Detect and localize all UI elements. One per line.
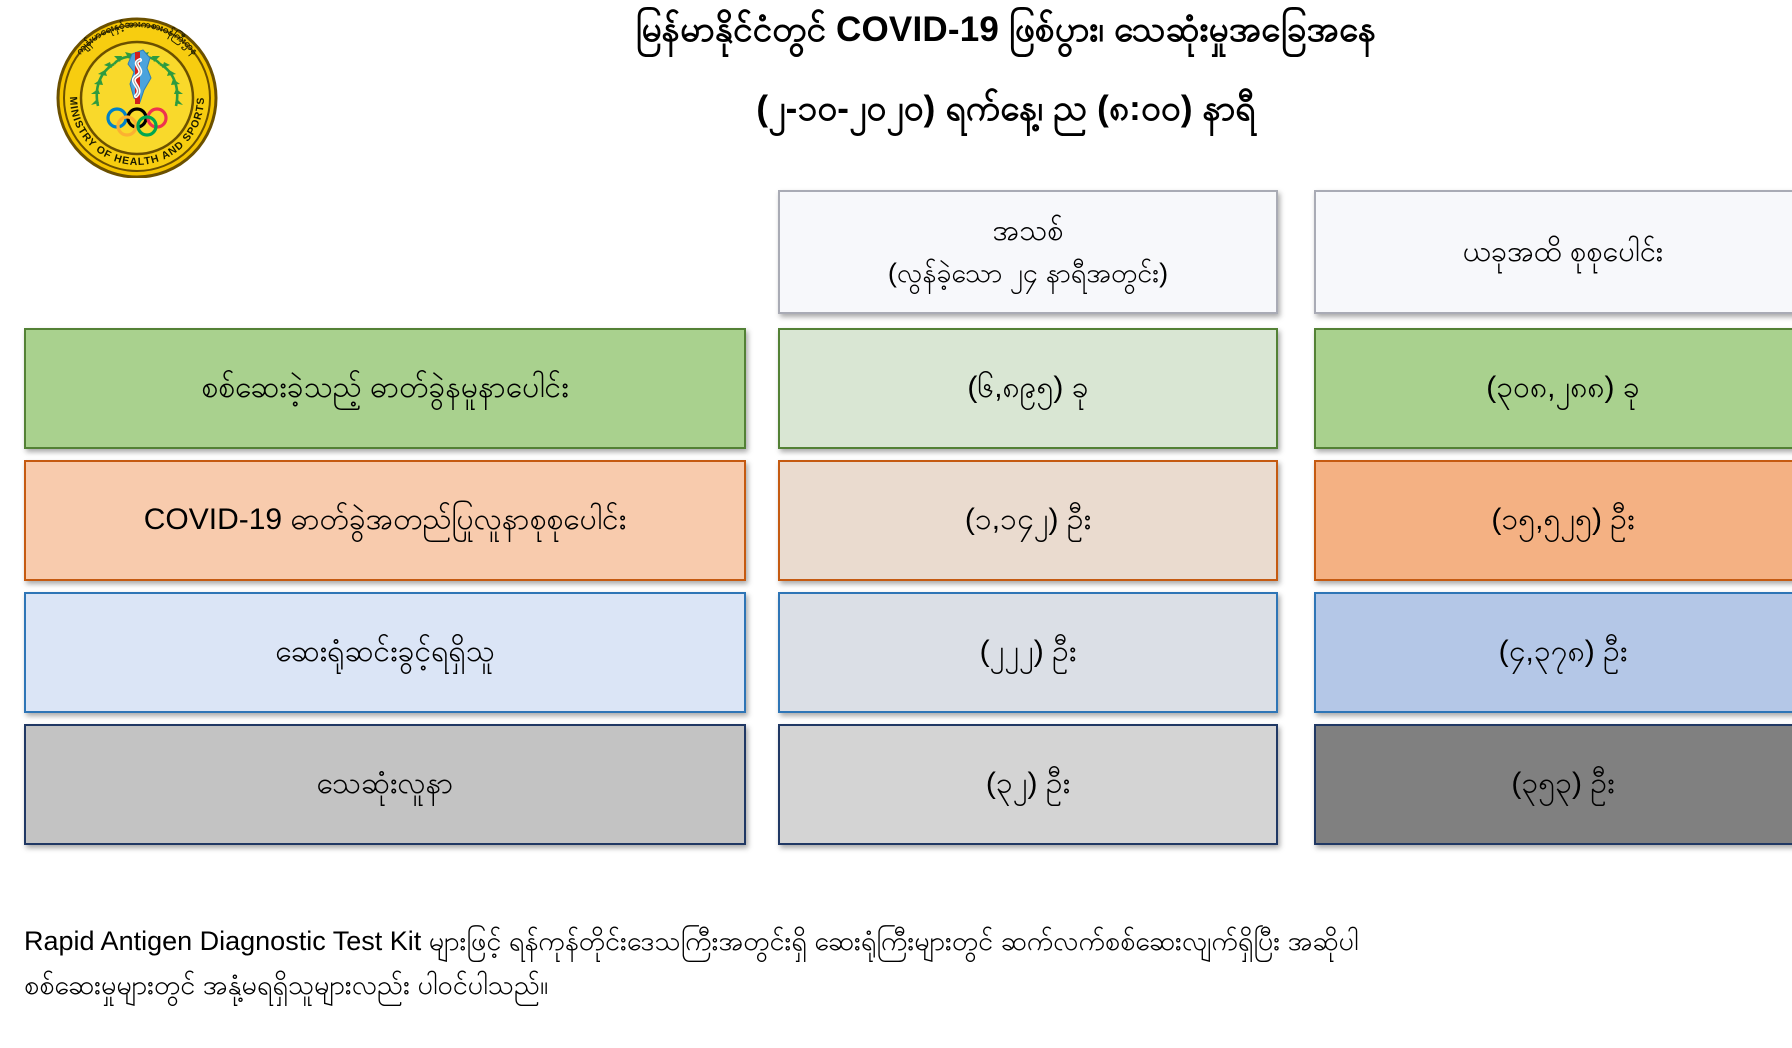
table-header-row: အသစ် (လွန်ခဲ့သော ၂၄ နာရီအတွင်း) ယခုအထိ စ… xyxy=(0,190,1792,314)
footnote-line-2: စစ်ဆေးမှုများတွင် အနုံ့မရရှိသူများလည်း ပ… xyxy=(24,964,1724,1008)
header-new-subtitle: (လွန်ခဲ့သော ၂၄ နာရီအတွင်း) xyxy=(888,255,1168,291)
footnote: Rapid Antigen Diagnostic Test Kit များဖြ… xyxy=(24,920,1724,1007)
header-label-spacer xyxy=(24,190,746,314)
row-label-deaths: သေဆုံးလူနာ xyxy=(24,724,746,845)
cell-confirmed-cases-new: (၁,၁၄၂) ဦး xyxy=(778,460,1278,581)
cell-samples-tested-total: (၃၀၈,၂၈၈) ခု xyxy=(1314,328,1792,449)
header-new-title: အသစ် xyxy=(993,212,1064,251)
table-row: စစ်ဆေးခဲ့သည့် ဓာတ်ခွဲနမူနာပေါင်း (၆,၈၉၅)… xyxy=(0,328,1792,449)
cell-discharged-new: (၂၂၂) ဦး xyxy=(778,592,1278,713)
cell-deaths-total: (၃၅၃) ဦး xyxy=(1314,724,1792,845)
row-label-discharged: ဆေးရုံဆင်းခွင့်ရရှိသူ xyxy=(24,592,746,713)
cell-discharged-total: (၄,၃၇၈) ဦး xyxy=(1314,592,1792,713)
cell-deaths-new: (၃၂) ဦး xyxy=(778,724,1278,845)
document-header: ကျန်းမာရေးနှင့်အားကစားဝန်ကြီးဌာန MINISTR… xyxy=(0,0,1792,186)
title-line-1: မြန်မာနိုင်ငံတွင် COVID-19 ဖြစ်ပွား၊ သေဆ… xyxy=(260,8,1752,53)
header-total-title: ယခုအထိ စုစုပေါင်း xyxy=(1463,233,1664,272)
ministry-of-health-and-sports-logo: ကျန်းမာရေးနှင့်အားကစားဝန်ကြီးဌာန MINISTR… xyxy=(44,6,230,178)
header-new-cases-column: အသစ် (လွန်ခဲ့သော ၂၄ နာရီအတွင်း) xyxy=(778,190,1278,314)
page-title: မြန်မာနိုင်ငံတွင် COVID-19 ဖြစ်ပွား၊ သေဆ… xyxy=(260,8,1752,132)
row-label-samples-tested: စစ်ဆေးခဲ့သည့် ဓာတ်ခွဲနမူနာပေါင်း xyxy=(24,328,746,449)
covid-statistics-table: အသစ် (လွန်ခဲ့သော ၂၄ နာရီအတွင်း) ယခုအထိ စ… xyxy=(0,190,1792,856)
row-label-confirmed-cases: COVID-19 ဓာတ်ခွဲအတည်ပြုလူနာစုစုပေါင်း xyxy=(24,460,746,581)
table-row: ဆေးရုံဆင်းခွင့်ရရှိသူ (၂၂၂) ဦး (၄,၃၇၈) ဦ… xyxy=(0,592,1792,713)
cell-confirmed-cases-total: (၁၅,၅၂၅) ဦး xyxy=(1314,460,1792,581)
header-total-column: ယခုအထိ စုစုပေါင်း xyxy=(1314,190,1792,314)
footnote-line-1: Rapid Antigen Diagnostic Test Kit များဖြ… xyxy=(24,920,1724,964)
title-line-2: (၂-၁၀-၂၀၂၀) ရက်နေ့၊ ည (၈:၀၀) နာရီ xyxy=(260,87,1752,132)
cell-samples-tested-new: (၆,၈၉၅) ခု xyxy=(778,328,1278,449)
table-row: COVID-19 ဓာတ်ခွဲအတည်ပြုလူနာစုစုပေါင်း (၁… xyxy=(0,460,1792,581)
table-row: သေဆုံးလူနာ (၃၂) ဦး (၃၅၃) ဦး xyxy=(0,724,1792,845)
